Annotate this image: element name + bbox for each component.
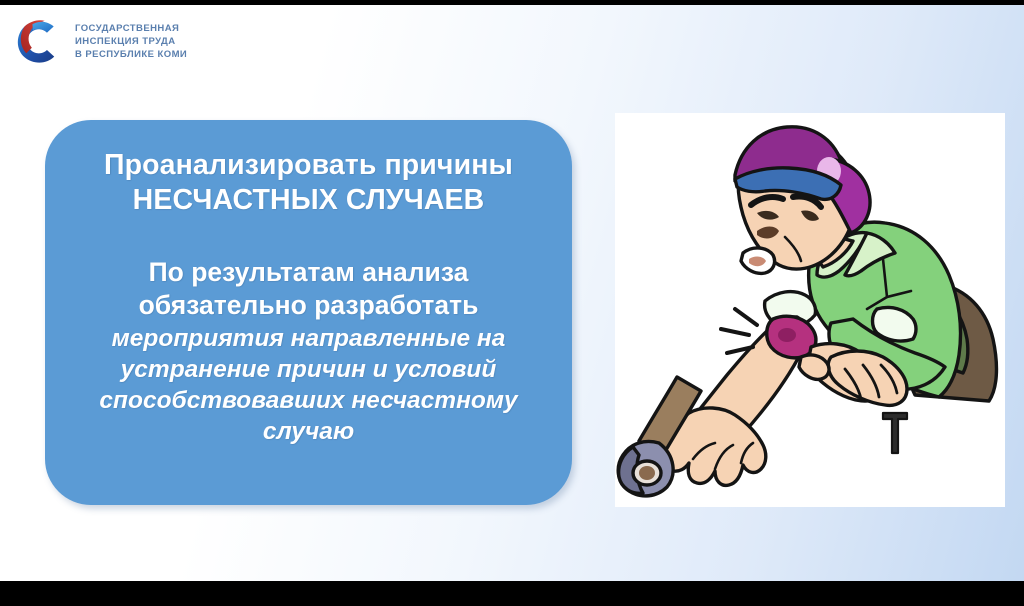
callout-panel: Проанализировать причины НЕСЧАСТНЫХ СЛУЧ… [45,120,572,505]
callout-heading-line-2: НЕСЧАСТНЫХ СЛУЧАЕВ [104,183,513,218]
callout-italic-line-4: случаю [99,416,517,447]
logo-line-3: В РЕСПУБЛИКЕ КОМИ [75,49,187,61]
callout-subheading-line-2: обязательно разработать [139,289,479,322]
organization-name: ГОСУДАРСТВЕННАЯ ИНСПЕКЦИЯ ТРУДА В РЕСПУБ… [75,21,187,61]
callout-subheading: По результатам анализа обязательно разра… [139,256,479,322]
state-labour-inspectorate-swirl-logo-icon [10,13,66,69]
callout-italic-line-3: способствовавших несчастному [99,385,517,416]
letterbox-bar-bottom [0,581,1024,606]
worker-hit-thumb-with-hammer-cartoon-icon [615,113,1005,507]
slide-canvas: ГОСУДАРСТВЕННАЯ ИНСПЕКЦИЯ ТРУДА В РЕСПУБ… [0,5,1024,581]
slide-root: ГОСУДАРСТВЕННАЯ ИНСПЕКЦИЯ ТРУДА В РЕСПУБ… [0,0,1024,606]
callout-subheading-line-1: По результатам анализа [139,256,479,289]
logo-line-1: ГОСУДАРСТВЕННАЯ [75,23,187,35]
callout-italic-line-2: устранение причин и условий [99,354,517,385]
logo-line-2: ИНСПЕКЦИЯ ТРУДА [75,36,187,48]
callout-italic-block: мероприятия направленные на устранение п… [99,323,517,447]
illustration-frame [615,113,1005,507]
organization-logo: ГОСУДАРСТВЕННАЯ ИНСПЕКЦИЯ ТРУДА В РЕСПУБ… [10,13,187,69]
callout-heading-line-1: Проанализировать причины [104,148,513,183]
callout-heading: Проанализировать причины НЕСЧАСТНЫХ СЛУЧ… [104,148,513,218]
callout-italic-line-1: мероприятия направленные на [99,323,517,354]
